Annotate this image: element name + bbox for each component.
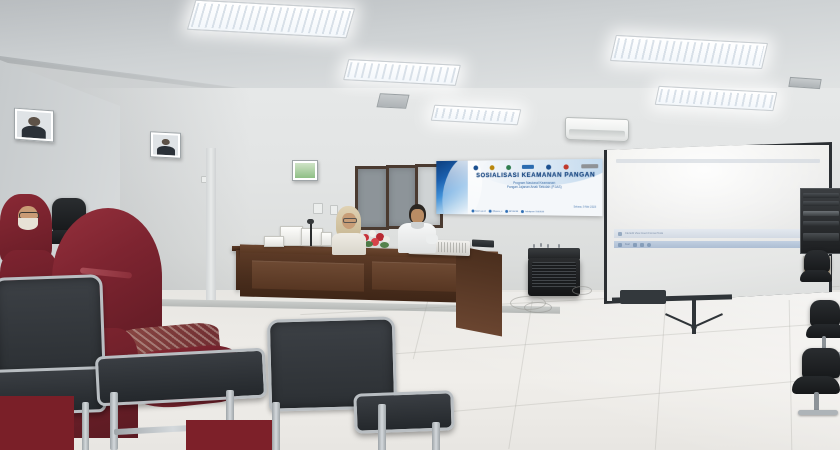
portrait-body [22, 125, 46, 139]
phone-icon [521, 210, 524, 213]
office-chair[interactable] [800, 250, 830, 306]
chair-backrest [0, 274, 106, 380]
globe-icon [472, 210, 475, 213]
meeting-room-photo: SOSIALISASI KEAMANAN PANGAN Program Nasi… [0, 0, 840, 450]
flower-leaf [380, 242, 389, 248]
amp-knob[interactable] [540, 243, 542, 247]
rack-unit [803, 233, 839, 241]
person-speaker-woman [332, 206, 366, 252]
projection-screen: File Edit View Insert Format Tools Start [604, 142, 832, 304]
banner-footer-label: bpom.go.id [475, 210, 485, 212]
document-stack [264, 236, 284, 247]
floor-cable [572, 286, 592, 295]
head-table-return [456, 246, 502, 337]
banner-footer-item: @bpom_ri [489, 210, 503, 213]
light-diffuser [434, 108, 517, 122]
amp-knob[interactable] [533, 244, 535, 248]
logo-mark-icon [564, 164, 569, 169]
logo-mark-icon [546, 164, 551, 169]
amp-knob[interactable] [558, 244, 560, 248]
av-equipment-rack [800, 188, 840, 254]
screen-taskbar: Start [614, 241, 823, 248]
event-banner: SOSIALISASI KEAMANAN PANGAN Program Nasi… [436, 159, 602, 216]
portrait-head [161, 138, 170, 145]
banner-date: Selasa, 9 Mei 2023 [573, 205, 596, 208]
chair-seat [800, 270, 832, 282]
ceiling-vent [788, 77, 821, 89]
flower-petal [369, 230, 376, 237]
chair-base [798, 410, 838, 415]
framed-picture [292, 160, 318, 181]
office-chair[interactable] [792, 348, 840, 428]
banner-footer-item: halobpom 1500533 [521, 210, 544, 213]
rack-unit [803, 201, 839, 206]
rack-unit [803, 193, 839, 198]
facebook-icon [505, 210, 508, 213]
banner-footer-item: BPOM RI [505, 210, 518, 213]
portrait-image [17, 111, 51, 139]
banner-subtitle-line-2: Pangan Jajanan Anak Sekolah (PJAS) [473, 185, 598, 189]
light-switch-plate[interactable] [313, 203, 323, 214]
logo-mark-icon [506, 165, 511, 170]
screen-case [620, 290, 666, 304]
browser-icon [640, 243, 644, 247]
media-icon [647, 243, 651, 247]
logo-mark-icon [473, 165, 478, 170]
chair-backrest [802, 348, 840, 378]
portrait-body [157, 145, 175, 155]
chair-leg [378, 404, 386, 450]
picture-image [295, 163, 315, 178]
banner-footer-item: bpom.go.id [472, 210, 486, 213]
person-speaker-man [398, 204, 436, 252]
torso [332, 233, 366, 255]
screen-app-toolbar: File Edit View Insert Format Tools [614, 229, 823, 238]
face-mask [18, 218, 38, 230]
portrait-head [28, 116, 40, 126]
head-table-panel [252, 260, 364, 291]
arm [426, 234, 438, 244]
chair-leg [82, 402, 89, 450]
ceiling-vent [376, 93, 409, 109]
banner-footer-label: @bpom_ri [492, 210, 502, 212]
screen-window-titlebar [616, 159, 820, 163]
light-diffuser [614, 38, 765, 66]
air-conditioner [565, 117, 629, 142]
start-icon [618, 243, 622, 247]
banquet-chair[interactable] [268, 318, 448, 450]
floor-mat [186, 420, 272, 450]
floor-cable [524, 302, 552, 313]
rack-unit [803, 211, 839, 216]
logo-wordmark-icon [581, 164, 598, 168]
screen-toolbar-text: File Edit View Insert Format Tools [625, 232, 664, 235]
shirt-collar [411, 222, 424, 229]
floor-mat [0, 396, 74, 450]
projection-screen-surface: File Edit View Insert Format Tools Start [607, 145, 829, 301]
microphone-head-icon [307, 219, 314, 224]
screen-taskbar-text: Start [625, 243, 630, 246]
banner-footer: bpom.go.id @bpom_ri BPOM RI halobpom 150… [472, 209, 600, 216]
chair-leg [432, 422, 440, 450]
banner-subtitle: Program Nasional Keamanan Pangan Jajanan… [473, 181, 598, 190]
banner-title: SOSIALISASI KEAMANAN PANGAN [473, 171, 598, 179]
chair-seat [95, 348, 267, 407]
banner-footer-label: BPOM RI [509, 210, 518, 212]
light-diffuser [347, 62, 457, 83]
banner-footer-label: halobpom 1500533 [525, 211, 544, 213]
framed-portrait [150, 131, 181, 159]
chair-leg [110, 392, 118, 450]
portrait-image [153, 134, 178, 155]
twitter-icon [489, 210, 492, 213]
document-box [301, 228, 323, 246]
light-diffuser [191, 3, 352, 35]
eyeglasses-icon [343, 218, 357, 223]
framed-portrait [14, 108, 54, 143]
speaker-grill [532, 262, 576, 288]
chair-post [814, 392, 819, 412]
banner-swoosh-graphic [436, 161, 467, 215]
banner-logo-row [473, 162, 598, 171]
menu-icon [618, 232, 622, 236]
microphone-stand [310, 222, 312, 246]
light-diffuser [658, 89, 773, 108]
chair-backrest [804, 250, 830, 272]
ac-vent [569, 129, 625, 138]
explorer-icon [633, 243, 637, 247]
logo-wordmark-icon [522, 165, 534, 169]
amp-knob[interactable] [547, 244, 549, 248]
logo-mark-icon [490, 165, 495, 170]
rack-unit [803, 221, 839, 226]
document-box [321, 232, 332, 246]
chair-leg [272, 402, 280, 450]
laptop-closed [472, 239, 494, 247]
